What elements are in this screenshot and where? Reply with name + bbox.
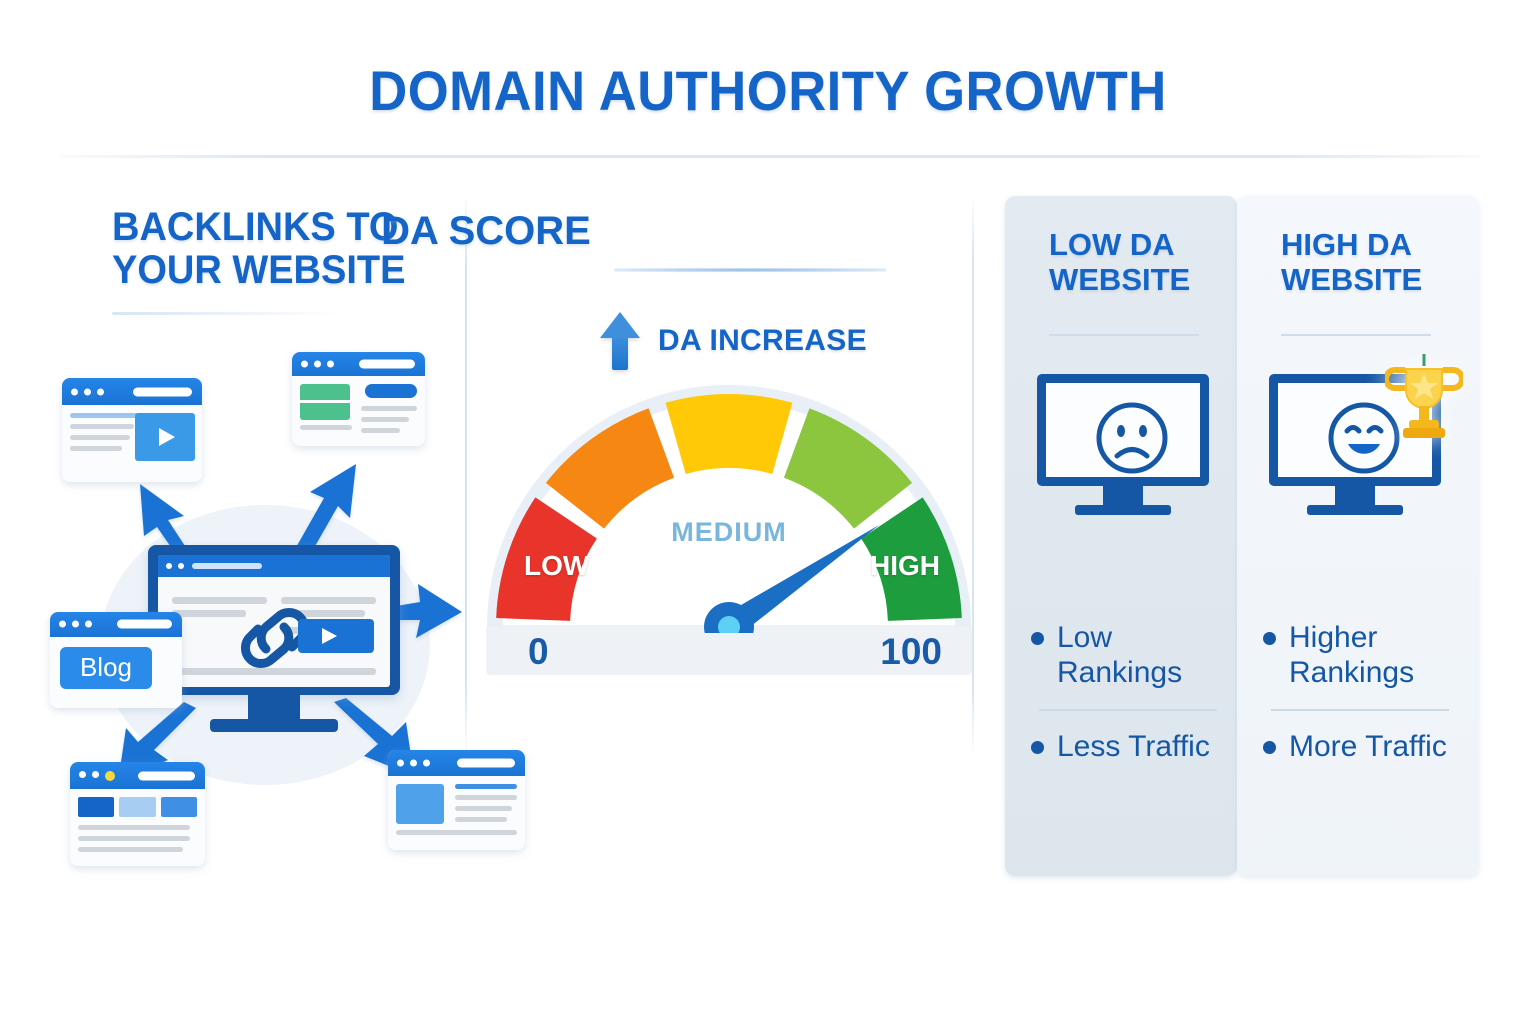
backlink-card-image[interactable]: [388, 750, 525, 850]
bullet-dot-icon: [1263, 632, 1276, 645]
da-score-heading-rule: [614, 268, 886, 272]
monitor-foot: [210, 719, 338, 732]
card-titlebar: [292, 352, 425, 376]
bullet-dot-icon: [1031, 632, 1044, 645]
window-dots-icon: [71, 388, 104, 395]
card-body: [70, 789, 205, 866]
da-increase-row: DA INCREASE: [600, 312, 867, 370]
image-block: [396, 784, 444, 824]
footer-bar: [172, 668, 376, 675]
da-increase-label: DA INCREASE: [658, 324, 867, 358]
gauge-zone-high: HIGH: [870, 550, 940, 582]
gauge-min-label: 0: [528, 631, 549, 673]
low-da-title-line2: WEBSITE: [1049, 263, 1190, 298]
card-titlebar: [70, 762, 205, 789]
bullet-divider: [1271, 709, 1449, 711]
window-dots-icon: [59, 621, 92, 628]
high-da-panel: HIGH DA WEBSITE: [1237, 196, 1479, 876]
window-dot-icon: [166, 563, 172, 569]
card-body: [62, 405, 202, 482]
page-title: DOMAIN AUTHORITY GROWTH: [46, 58, 1490, 123]
da-score-gauge: MEDIUM LOW HIGH 0 100: [486, 365, 972, 675]
tile-row: [78, 797, 197, 817]
low-da-monitor: [1037, 374, 1209, 514]
da-score-heading: DA SCORE: [0, 210, 972, 253]
trophy-icon: [1385, 352, 1463, 450]
sad-face-icon: [1093, 399, 1171, 477]
card-titlebar: [50, 612, 182, 637]
list-item-label: Low Rankings: [1057, 620, 1221, 691]
infographic-canvas: DOMAIN AUTHORITY GROWTH BACKLINKS TO YOU…: [0, 0, 1536, 1024]
bullet-dot-icon: [1031, 741, 1044, 754]
address-bar: [192, 563, 262, 569]
backlink-card-video[interactable]: [62, 378, 202, 482]
address-bar: [359, 360, 415, 369]
backlink-card-tiles[interactable]: [70, 762, 205, 866]
list-item: More Traffic: [1263, 723, 1453, 764]
address-bar: [133, 387, 192, 396]
backlinks-illustration: Blog: [40, 330, 460, 900]
blog-label: Blog: [60, 647, 152, 689]
low-da-panel: LOW DA WEBSITE Low Rankings: [1005, 196, 1237, 876]
list-item-label: Less Traffic: [1057, 729, 1210, 764]
your-website-monitor[interactable]: [148, 545, 400, 735]
browser-window: [158, 555, 390, 687]
gauge-arc: [486, 365, 972, 633]
low-da-title-line1: LOW DA: [1049, 228, 1190, 263]
monitor-screen: [1037, 374, 1209, 486]
window-dots-icon: [301, 361, 334, 368]
monitor-neck: [248, 695, 300, 721]
gauge-max-label: 100: [880, 631, 942, 673]
section-divider-left: [465, 200, 467, 750]
list-item: Higher Rankings: [1263, 614, 1453, 691]
monitor-foot: [1307, 505, 1403, 515]
address-bar: [138, 771, 195, 780]
low-da-title: LOW DA WEBSITE: [1049, 228, 1190, 297]
section-divider-right: [972, 200, 974, 750]
backlinks-heading-line2: YOUR WEBSITE: [112, 249, 435, 292]
play-icon: [159, 428, 175, 446]
high-da-title-line1: HIGH DA: [1281, 228, 1422, 263]
high-da-title: HIGH DA WEBSITE: [1281, 228, 1422, 297]
cta-button[interactable]: [298, 619, 374, 653]
low-da-bullets: Low Rankings Less Traffic: [1031, 614, 1221, 764]
address-bar: [117, 620, 172, 629]
backlink-card-content[interactable]: [292, 352, 425, 446]
bullet-dot-icon: [1263, 741, 1276, 754]
green-block: [300, 384, 350, 420]
card-body: [292, 376, 425, 446]
video-thumbnail: [135, 413, 195, 461]
backlink-card-blog[interactable]: Blog: [50, 612, 182, 708]
high-da-bullets: Higher Rankings More Traffic: [1263, 614, 1453, 764]
monitor-foot: [1075, 505, 1171, 515]
gauge-zone-low: LOW: [524, 550, 589, 582]
arrow-up-icon: [600, 312, 640, 370]
card-body: Blog: [50, 637, 182, 708]
blue-button-block: [365, 384, 417, 398]
list-item: Less Traffic: [1031, 723, 1221, 764]
list-item: Low Rankings: [1031, 614, 1221, 691]
browser-titlebar: [158, 555, 390, 577]
card-titlebar: [62, 378, 202, 405]
card-body: [388, 776, 525, 850]
card-titlebar: [388, 750, 525, 776]
window-dots-icon: [79, 771, 115, 781]
list-item-label: Higher Rankings: [1289, 620, 1453, 691]
gauge-zone-medium: MEDIUM: [486, 517, 972, 548]
high-da-title-line2: WEBSITE: [1281, 263, 1422, 298]
address-bar: [457, 759, 515, 768]
backlinks-heading-rule: [112, 312, 342, 315]
bullet-divider: [1039, 709, 1217, 711]
list-item-label: More Traffic: [1289, 729, 1447, 764]
title-divider: [60, 155, 1480, 158]
high-da-title-rule: [1281, 334, 1431, 336]
monitor-screen: [148, 545, 400, 695]
window-dot-icon: [178, 563, 184, 569]
window-dots-icon: [397, 760, 430, 767]
low-da-title-rule: [1049, 334, 1199, 336]
